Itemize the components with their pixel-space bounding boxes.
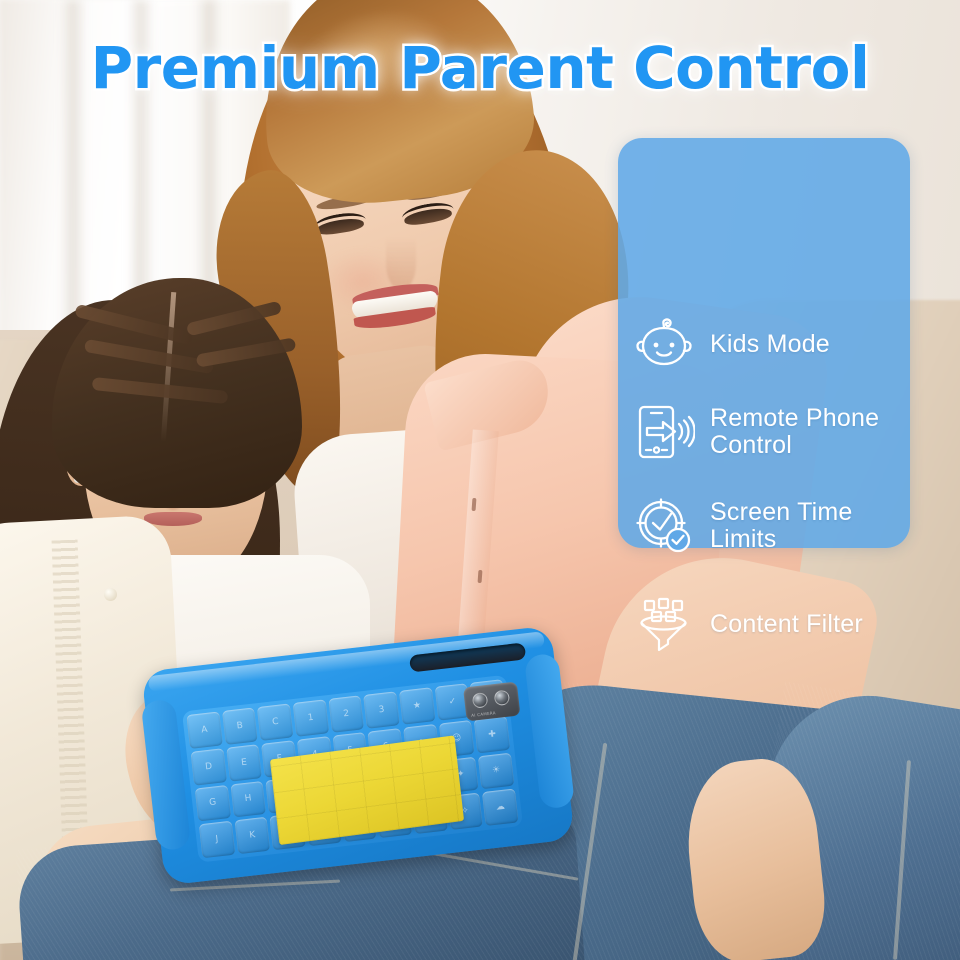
feature-label-remote-phone-control: Remote Phone Control	[710, 405, 879, 459]
product-marketing-image: ABC123★✓♥DEF456◆☺✚GHI789▲✦☀JKL0?!●✧☁ AI …	[0, 0, 960, 960]
feature-panel: Kids Mode Remote Phone	[618, 138, 910, 548]
feature-label-content-filter: Content Filter	[710, 611, 863, 638]
emboss-key: B	[222, 707, 258, 744]
emboss-key: ☁	[482, 789, 518, 826]
emboss-key: H	[230, 780, 266, 817]
emboss-key: ★	[399, 687, 435, 724]
clock-check-icon	[618, 495, 710, 557]
feature-row-screen-time-limits[interactable]: Screen Time Limits	[618, 488, 910, 564]
funnel-filter-icon	[618, 593, 710, 655]
mother-nose	[386, 238, 416, 290]
emboss-key: 2	[328, 695, 364, 732]
feature-label-kids-mode: Kids Mode	[710, 331, 830, 358]
emboss-key: K	[234, 817, 270, 854]
tablet-camera-label: AI CAMERA	[471, 710, 496, 718]
feature-row-content-filter[interactable]: Content Filter	[618, 586, 910, 662]
girl-cardigan-button	[104, 588, 117, 601]
baby-face-icon	[618, 313, 710, 375]
tablet-camera-lens	[494, 690, 511, 707]
tablet-camera-lens	[472, 692, 489, 709]
remote-phone-signal-icon	[618, 401, 710, 463]
emboss-key: E	[226, 744, 262, 781]
emboss-key: A	[186, 711, 222, 748]
emboss-key: C	[257, 703, 293, 740]
emboss-key: G	[195, 785, 231, 822]
emboss-key: 3	[364, 691, 400, 728]
girl-mouth	[144, 512, 202, 526]
emboss-key: ☀	[478, 752, 514, 789]
tablet-camera-module: AI CAMERA	[463, 682, 521, 722]
emboss-key: ✚	[474, 716, 510, 753]
emboss-key: D	[190, 748, 226, 785]
feature-row-kids-mode[interactable]: Kids Mode	[618, 314, 910, 374]
emboss-key: 1	[293, 699, 329, 736]
feature-label-screen-time-limits: Screen Time Limits	[710, 499, 853, 553]
emboss-key: J	[199, 821, 235, 858]
feature-row-remote-phone-control[interactable]: Remote Phone Control	[618, 394, 910, 470]
